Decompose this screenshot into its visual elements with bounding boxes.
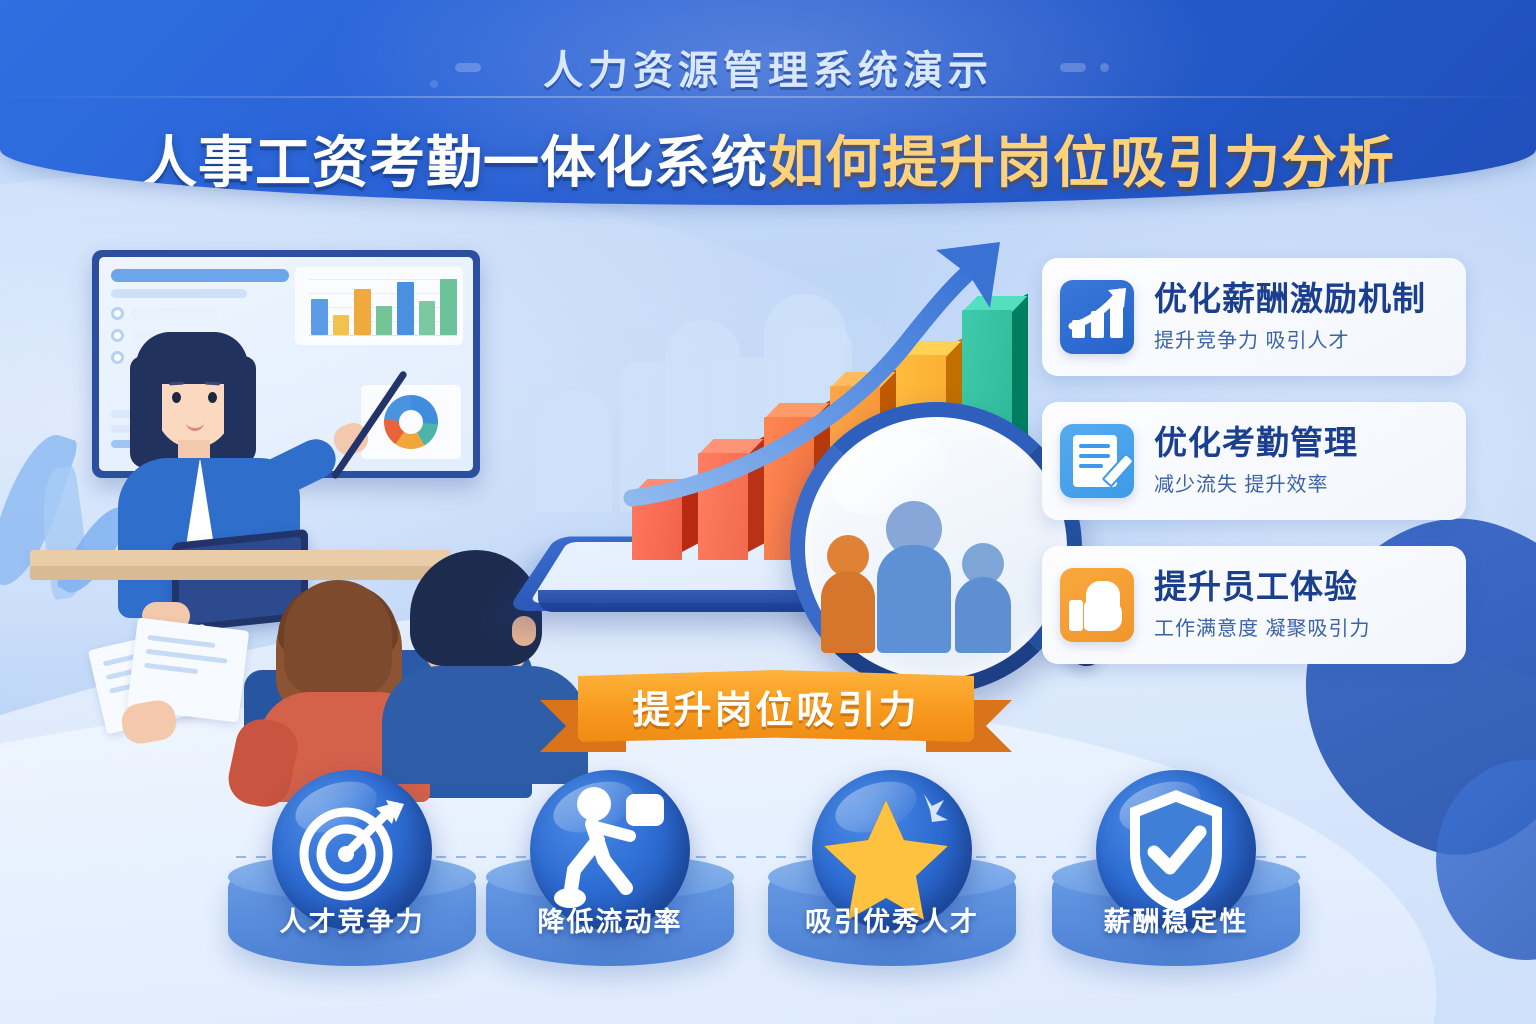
screen-bar	[440, 279, 457, 335]
desk-surface	[30, 550, 450, 566]
person-blue-right	[955, 543, 1011, 653]
growth-chart-illustration	[528, 242, 1068, 682]
screen-title-bar	[111, 269, 289, 282]
feature-card-title: 优化考勤管理	[1154, 425, 1358, 461]
page-title-orange: 如何提升岗位吸引力分析	[768, 131, 1395, 194]
screen-bar	[354, 289, 371, 335]
feature-card-text: 提升员工体验 工作满意度 凝聚吸引力	[1154, 569, 1371, 641]
presenter-eye-left	[172, 392, 181, 403]
screen-donut-chart	[361, 385, 461, 459]
presenter-eye-right	[208, 392, 217, 403]
feature-card-salary[interactable]: 优化薪酬激励机制 提升竞争力 吸引人才	[1042, 258, 1466, 376]
infographic-canvas: 人力资源管理系统演示 人事工资考勤一体化系统如何提升岗位吸引力分析	[0, 0, 1536, 1024]
document-edit-icon	[1060, 424, 1134, 498]
presenter-hair-left	[130, 356, 162, 468]
desk-edge	[30, 566, 450, 580]
magnifier-lens	[790, 402, 1082, 694]
pillar-row: 人才竞争力 降低流动率	[0, 770, 1536, 980]
feature-card-text: 优化考勤管理 减少流失 提升效率	[1154, 425, 1358, 497]
pillar-salary-stability[interactable]: 薪酬稳定性	[1052, 770, 1300, 970]
bg-ghost-bar-1	[536, 390, 612, 512]
screen-line-1	[111, 289, 247, 298]
screen-bar	[333, 315, 350, 335]
header-banner: 人力资源管理系统演示 人事工资考勤一体化系统如何提升岗位吸引力分析	[0, 0, 1536, 205]
pillar-label: 薪酬稳定性	[1052, 900, 1300, 939]
page-title: 人事工资考勤一体化系统如何提升岗位吸引力分析	[0, 118, 1536, 199]
header-divider-line	[0, 96, 1536, 98]
donut-ring	[384, 395, 438, 449]
pillar-label: 吸引优秀人才	[768, 900, 1016, 939]
pillar-label: 人才竞争力	[228, 900, 476, 939]
screen-bar	[397, 282, 414, 335]
person-orange	[821, 535, 875, 653]
chart-growth-icon	[1060, 280, 1134, 354]
feature-card-list: 优化薪酬激励机制 提升竞争力 吸引人才 优化考勤管理 减少流失 提升效率	[1042, 258, 1466, 690]
feature-card-title: 优化薪酬激励机制	[1154, 281, 1426, 317]
page-title-white: 人事工资考勤一体化系统	[141, 131, 768, 194]
feature-card-title: 提升员工体验	[1154, 569, 1371, 605]
ribbon-banner: 提升岗位吸引力	[540, 668, 1012, 764]
feature-card-text: 优化薪酬激励机制 提升竞争力 吸引人才	[1154, 281, 1426, 353]
feature-card-subtitle: 提升竞争力 吸引人才	[1154, 324, 1426, 353]
screen-bar-series	[311, 277, 457, 335]
feature-card-attendance[interactable]: 优化考勤管理 减少流失 提升效率	[1042, 402, 1466, 520]
person-blue-center	[877, 501, 951, 653]
feature-card-subtitle: 减少流失 提升效率	[1154, 468, 1358, 497]
ribbon-label: 提升岗位吸引力	[578, 670, 974, 742]
pillar-talent-competitiveness[interactable]: 人才竞争力	[228, 770, 476, 970]
header-subtitle: 人力资源管理系统演示	[0, 38, 1536, 96]
presentation-scene	[92, 250, 492, 750]
presenter-hair-right	[224, 356, 256, 464]
feature-card-experience[interactable]: 提升员工体验 工作满意度 凝聚吸引力	[1042, 546, 1466, 664]
screen-bar	[376, 306, 393, 335]
feature-card-subtitle: 工作满意度 凝聚吸引力	[1154, 612, 1371, 641]
pillar-reduce-turnover[interactable]: 降低流动率	[486, 770, 734, 970]
magnifier-icon	[790, 402, 1070, 682]
pillar-attract-talent[interactable]: 吸引优秀人才	[768, 770, 1016, 970]
pillar-label: 降低流动率	[486, 900, 734, 939]
thumbs-up-icon	[1060, 568, 1134, 642]
screen-bar	[419, 301, 436, 335]
